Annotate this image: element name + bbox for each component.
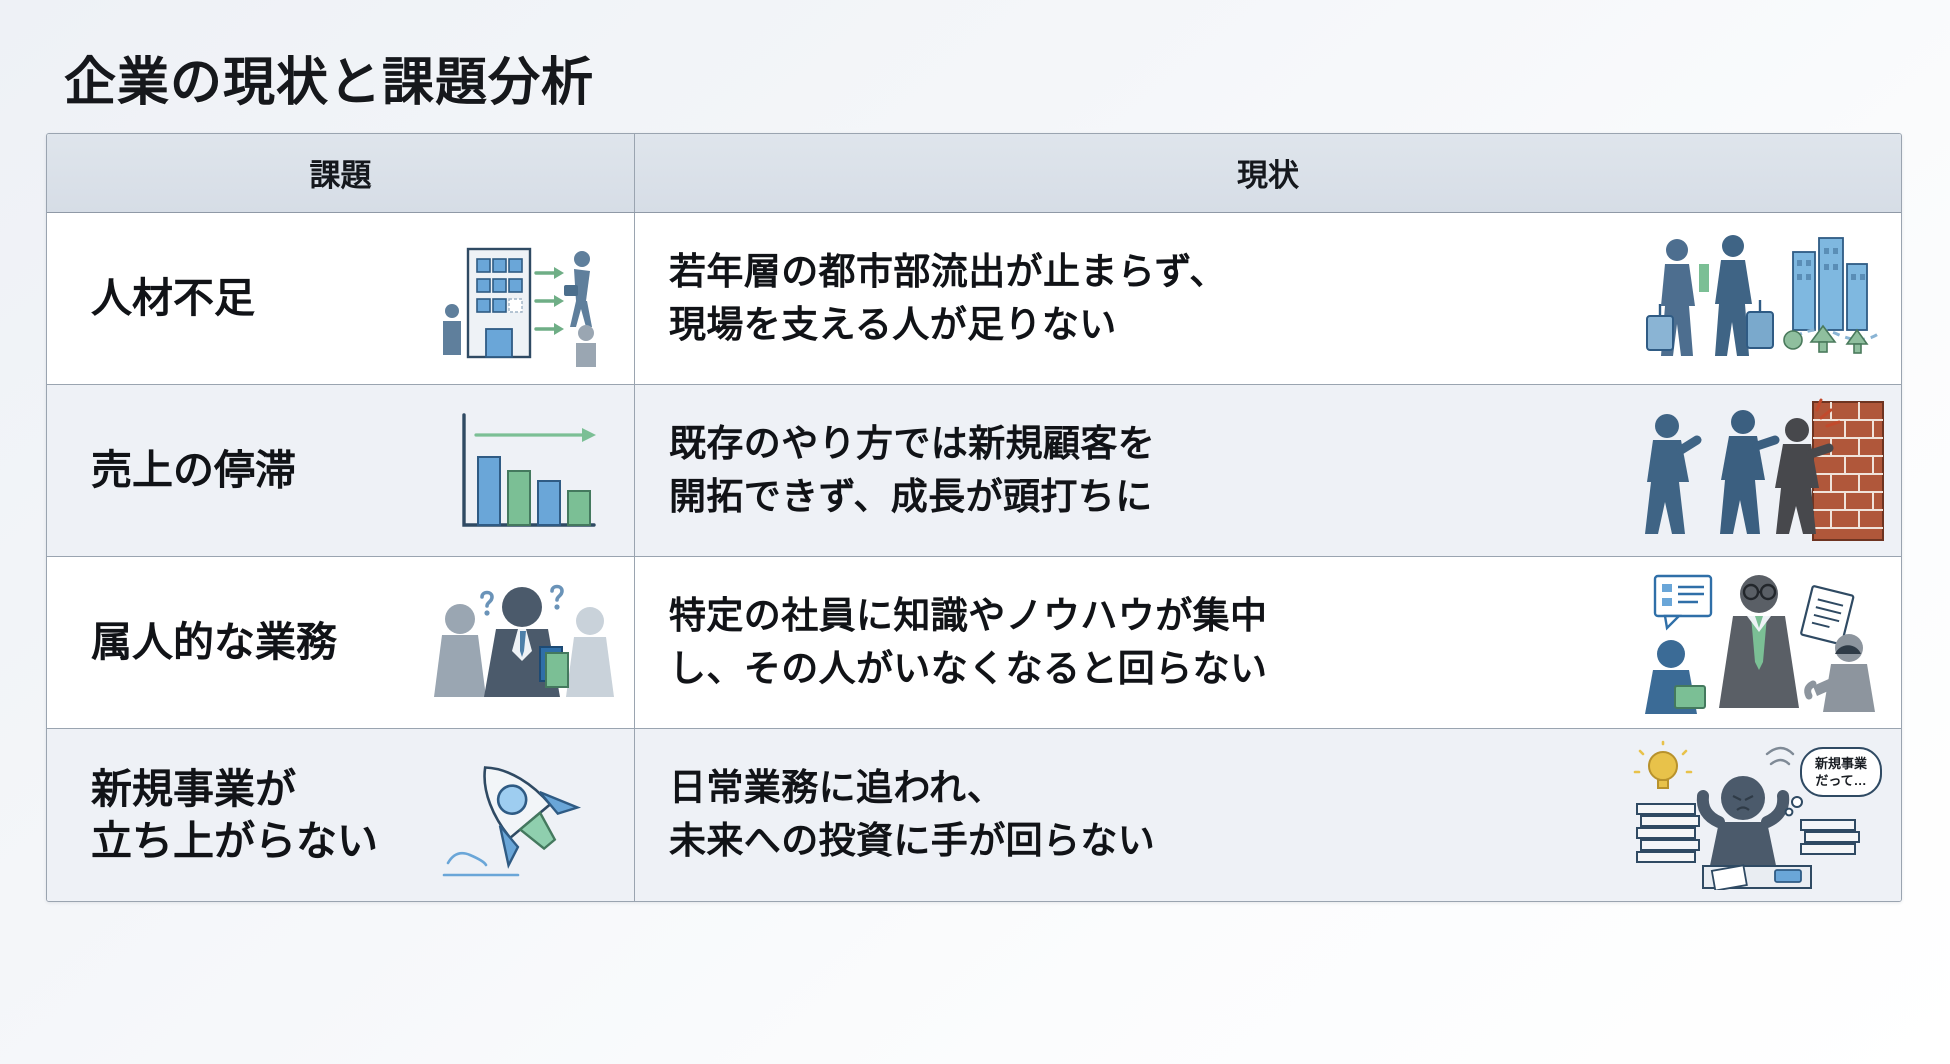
thought-bubble: 新規事業 だって… <box>1786 748 1881 815</box>
office-building-people-leaving-icon <box>430 229 620 369</box>
status-text-1: 若年層の都市部流出が止まらず、 現場を支える人が足りない <box>669 246 1227 351</box>
table-row: 新規事業が 立ち上がらない 日常業務に追われ、 未来への投資に手が回らない <box>47 729 1901 901</box>
status-cell-4: 日常業務に追われ、 未来への投資に手が回らない <box>635 729 1901 901</box>
declining-bar-chart-icon <box>430 401 620 541</box>
svg-text:だって…: だって… <box>1815 773 1866 788</box>
table-row: 属人的な業務 特定の社員に知識やノウハウが集中 し、その人がいなくな <box>47 557 1901 729</box>
table-row: 売上の停滞 既存のやり方では新規顧客を 開拓できず、成長が頭打ちに <box>47 385 1901 557</box>
issue-cell-3: 属人的な業務 <box>47 557 635 728</box>
people-blocked-by-brick-wall-icon <box>1635 396 1885 546</box>
slide-root: 企業の現状と課題分析 課題 現状 人材不足 <box>0 0 1950 1064</box>
status-text-4: 日常業務に追われ、 未来への投資に手が回らない <box>669 762 1155 867</box>
column-header-issue: 課題 <box>47 134 635 212</box>
table-header-row: 課題 現状 <box>47 134 1901 213</box>
issue-label-3: 属人的な業務 <box>91 616 337 668</box>
issue-label-2: 売上の停滞 <box>91 444 296 496</box>
issue-label-1: 人材不足 <box>91 272 255 324</box>
rocket-launch-icon <box>430 745 620 885</box>
issue-label-4: 新規事業が 立ち上がらない <box>91 763 378 868</box>
confused-employees-question-marks-icon <box>430 573 620 713</box>
status-cell-2: 既存のやり方では新規顧客を 開拓できず、成長が頭打ちに <box>635 385 1901 556</box>
issue-cell-4: 新規事業が 立ち上がらない <box>47 729 635 901</box>
status-cell-3: 特定の社員に知識やノウハウが集中 し、その人がいなくなると回らない <box>635 557 1901 728</box>
issue-cell-1: 人材不足 <box>47 213 635 384</box>
senior-expert-with-documents-icon <box>1635 568 1885 718</box>
people-with-suitcases-city-icon <box>1635 224 1885 374</box>
overwhelmed-worker-paperwork-icon: 新規事業 だって… <box>1625 740 1885 890</box>
page-title: 企業の現状と課題分析 <box>64 40 1904 115</box>
status-cell-1: 若年層の都市部流出が止まらず、 現場を支える人が足りない <box>635 213 1901 384</box>
status-text-2: 既存のやり方では新規顧客を 開拓できず、成長が頭打ちに <box>669 418 1155 523</box>
column-header-status: 現状 <box>635 134 1901 212</box>
issues-status-table: 課題 現状 人材不足 <box>46 133 1902 902</box>
status-text-3: 特定の社員に知識やノウハウが集中 し、その人がいなくなると回らない <box>669 590 1267 695</box>
svg-text:新規事業: 新規事業 <box>1814 756 1868 771</box>
table-row: 人材不足 <box>47 213 1901 385</box>
issue-cell-2: 売上の停滞 <box>47 385 635 556</box>
